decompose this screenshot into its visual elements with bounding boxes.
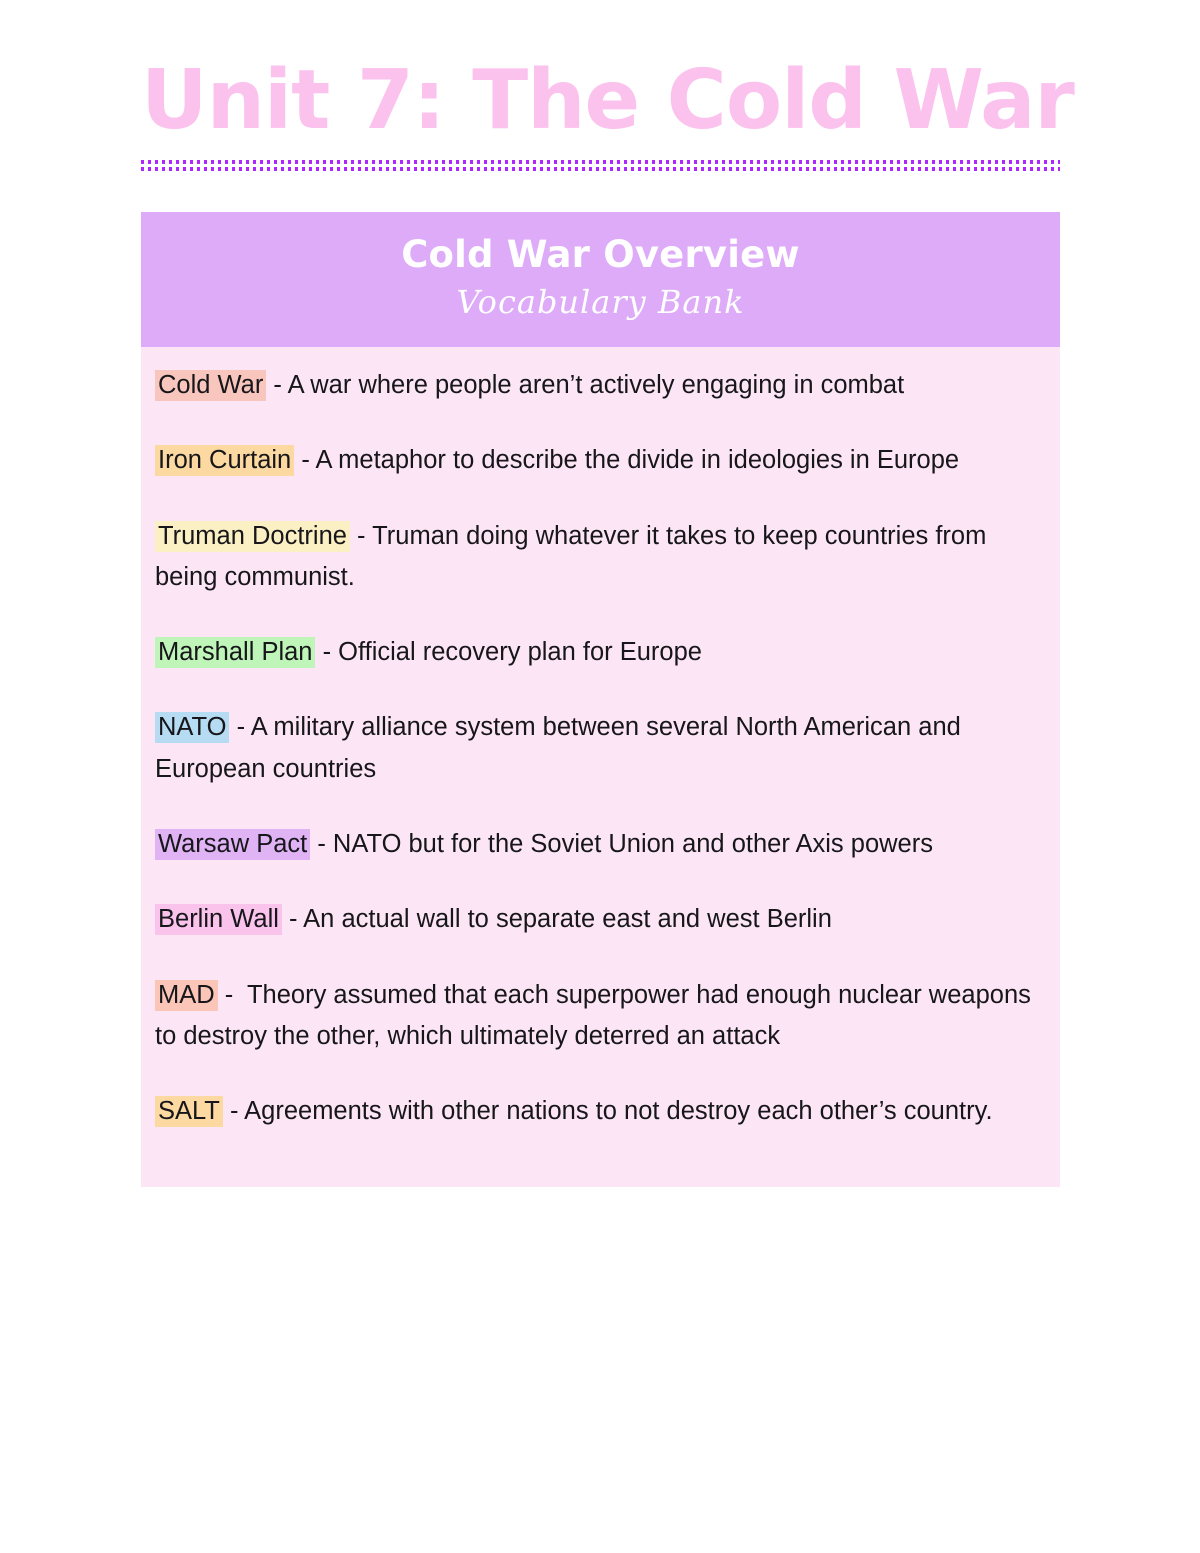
card-subheading: Vocabulary Bank xyxy=(161,283,1040,321)
vocabulary-definition: - Agreements with other nations to not d… xyxy=(223,1097,993,1125)
worksheet-page: Unit 7: The Cold War Cold War Overview V… xyxy=(0,0,1200,1553)
page-title: Unit 7: The Cold War xyxy=(141,62,1060,140)
vocabulary-term-highlight: Iron Curtain xyxy=(155,445,294,476)
vocabulary-entry: SALT - Agreements with other nations to … xyxy=(155,1091,1042,1132)
vocabulary-definition: - An actual wall to separate east and we… xyxy=(282,905,832,933)
vocabulary-definition: - Theory assumed that each superpower ha… xyxy=(155,981,1038,1050)
vocabulary-entry: Marshall Plan - Official recovery plan f… xyxy=(155,632,1042,673)
vocabulary-term-highlight: Berlin Wall xyxy=(155,904,282,935)
title-block: Unit 7: The Cold War xyxy=(141,62,1060,171)
vocabulary-entry: Cold War - A war where people aren’t act… xyxy=(155,365,1042,406)
vocabulary-term-highlight: MAD xyxy=(155,980,218,1011)
vocabulary-entry: Truman Doctrine - Truman doing whatever … xyxy=(155,516,1042,599)
vocabulary-term-highlight: SALT xyxy=(155,1096,223,1127)
vocabulary-definition: - NATO but for the Soviet Union and othe… xyxy=(310,830,933,858)
vocabulary-term-highlight: Cold War xyxy=(155,370,266,401)
vocabulary-definition: - A metaphor to describe the divide in i… xyxy=(294,446,959,474)
dotted-divider xyxy=(141,160,1060,171)
vocabulary-card: Cold War Overview Vocabulary Bank Cold W… xyxy=(141,212,1060,1187)
vocabulary-entry: NATO - A military alliance system betwee… xyxy=(155,707,1042,790)
vocabulary-entry: Warsaw Pact - NATO but for the Soviet Un… xyxy=(155,824,1042,865)
vocabulary-term-highlight: NATO xyxy=(155,712,229,743)
vocabulary-entry: Berlin Wall - An actual wall to separate… xyxy=(155,899,1042,940)
vocabulary-definition: - A war where people aren’t actively eng… xyxy=(266,371,904,399)
vocabulary-definition: - A military alliance system between sev… xyxy=(155,713,968,782)
vocabulary-term-highlight: Warsaw Pact xyxy=(155,829,310,860)
vocabulary-entry: Iron Curtain - A metaphor to describe th… xyxy=(155,440,1042,481)
card-heading: Cold War Overview xyxy=(161,234,1040,277)
vocabulary-list: Cold War - A war where people aren’t act… xyxy=(141,347,1060,1187)
card-header: Cold War Overview Vocabulary Bank xyxy=(141,212,1060,347)
vocabulary-definition: - Official recovery plan for Europe xyxy=(315,638,701,666)
vocabulary-term-highlight: Marshall Plan xyxy=(155,637,315,668)
vocabulary-term-highlight: Truman Doctrine xyxy=(155,521,350,552)
vocabulary-entry: MAD - Theory assumed that each superpowe… xyxy=(155,975,1042,1058)
